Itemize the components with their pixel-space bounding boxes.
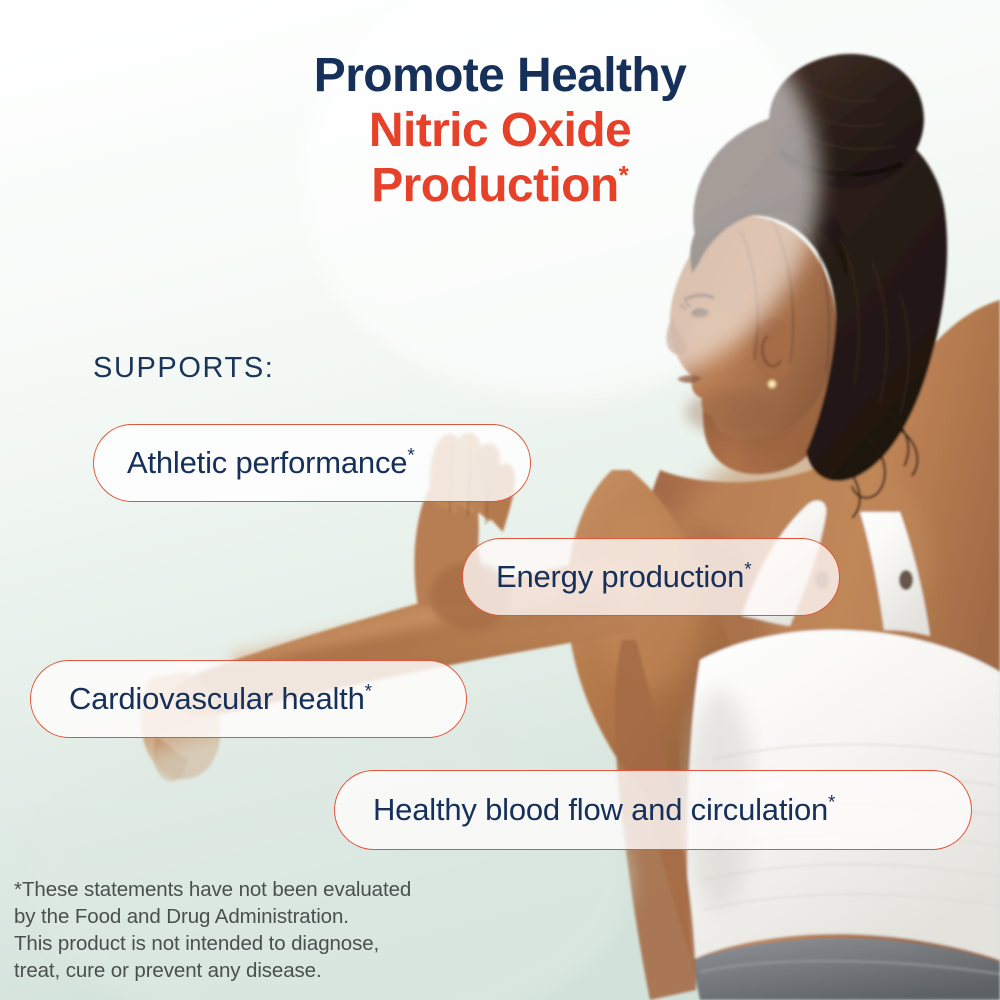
headline-line-2: Nitric Oxide xyxy=(180,107,820,156)
disclaimer-asterisk: * xyxy=(14,878,22,901)
benefit-pill-text: Athletic performance xyxy=(127,445,407,480)
disclaimer-line-1: *These statements have not been evaluate… xyxy=(14,876,411,903)
benefit-pill-text: Healthy blood flow and circulation xyxy=(373,792,828,827)
headline-line-3-text: Production xyxy=(371,159,618,212)
disclaimer-line-1-text: These statements have not been evaluated xyxy=(22,878,411,901)
headline-line-1: Promote Healthy xyxy=(180,52,820,101)
benefit-pill-asterisk: * xyxy=(744,560,751,581)
benefit-pill-asterisk: * xyxy=(365,682,372,703)
benefit-pill-label: Athletic performance* xyxy=(127,445,415,481)
disclaimer-line-2: by the Food and Drug Administration. xyxy=(14,903,411,930)
benefit-pill-text: Cardiovascular health xyxy=(69,681,365,716)
benefit-pill-blood-flow-circulation[interactable]: Healthy blood flow and circulation* xyxy=(334,770,972,850)
headline-line-3: Production* xyxy=(180,162,820,211)
benefit-pill-asterisk: * xyxy=(828,793,835,814)
benefit-pill-athletic-performance[interactable]: Athletic performance* xyxy=(93,424,531,502)
benefit-pill-label: Healthy blood flow and circulation* xyxy=(373,792,835,828)
benefit-pill-label: Cardiovascular health* xyxy=(69,681,372,717)
headline-asterisk: * xyxy=(619,160,629,190)
supports-label: SUPPORTS: xyxy=(93,352,274,385)
benefit-pill-cardiovascular-health[interactable]: Cardiovascular health* xyxy=(30,660,467,738)
promotional-graphic: Promote Healthy Nitric Oxide Production*… xyxy=(0,0,1000,1000)
disclaimer-line-3: This product is not intended to diagnose… xyxy=(14,930,411,957)
benefit-pill-asterisk: * xyxy=(407,446,414,467)
benefit-pill-label: Energy production* xyxy=(496,559,752,595)
benefit-pill-energy-production[interactable]: Energy production* xyxy=(462,538,840,616)
disclaimer-line-4: treat, cure or prevent any disease. xyxy=(14,957,411,984)
fda-disclaimer: *These statements have not been evaluate… xyxy=(14,876,411,984)
page-title: Promote Healthy Nitric Oxide Production* xyxy=(180,52,820,211)
benefit-pill-text: Energy production xyxy=(496,559,744,594)
